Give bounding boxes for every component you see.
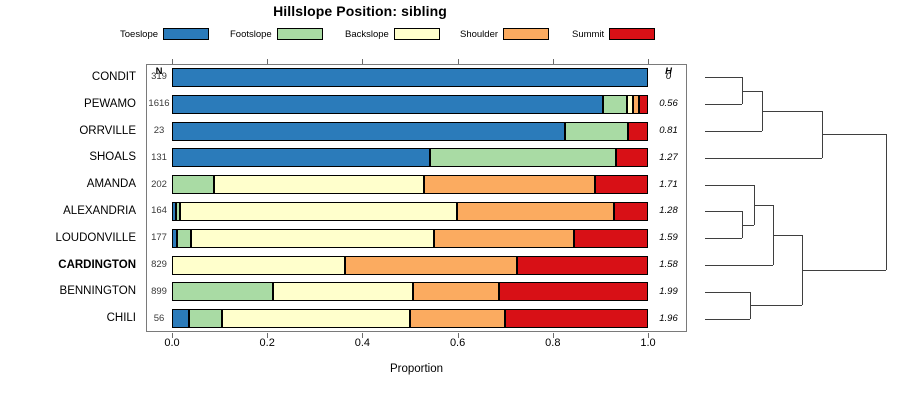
bar-chili[interactable] xyxy=(172,309,648,328)
x-tick-mark xyxy=(267,59,268,64)
bar-segment-footslope[interactable] xyxy=(565,122,627,141)
dendrogram-link xyxy=(705,265,773,266)
bar-segment-summit[interactable] xyxy=(616,148,648,167)
x-tick-label-0.2: 0.2 xyxy=(247,337,287,349)
x-axis-title: Proportion xyxy=(146,363,687,375)
bar-condit[interactable] xyxy=(172,68,648,87)
bar-segment-footslope[interactable] xyxy=(172,282,273,301)
bar-segment-toeslope[interactable] xyxy=(172,95,603,114)
bar-segment-footslope[interactable] xyxy=(430,148,616,167)
dendrogram-link xyxy=(705,292,750,293)
dendrogram-link xyxy=(705,77,742,78)
bar-segment-toeslope[interactable] xyxy=(172,148,430,167)
bar-alexandria[interactable] xyxy=(172,202,648,221)
bar-segment-toeslope[interactable] xyxy=(172,309,189,328)
bar-segment-backslope[interactable] xyxy=(172,256,345,275)
bar-loudonville[interactable] xyxy=(172,229,648,248)
bar-segment-summit[interactable] xyxy=(628,122,648,141)
bar-orrville[interactable] xyxy=(172,122,648,141)
x-tick-mark xyxy=(172,59,173,64)
bar-segment-shoulder[interactable] xyxy=(410,309,505,328)
x-tick-label-0.0: 0.0 xyxy=(152,337,192,349)
dendrogram xyxy=(690,64,900,332)
bar-segment-backslope[interactable] xyxy=(191,229,434,248)
dendrogram-link xyxy=(822,134,886,135)
bar-segment-backslope[interactable] xyxy=(180,202,457,221)
dendrogram-link xyxy=(705,158,822,159)
dendrogram-link xyxy=(705,238,742,239)
bar-segment-summit[interactable] xyxy=(517,256,648,275)
x-tick-label-0.4: 0.4 xyxy=(342,337,382,349)
dendrogram-link xyxy=(705,185,754,186)
bar-segment-toeslope[interactable] xyxy=(172,68,648,87)
bar-amanda[interactable] xyxy=(172,175,648,194)
bar-segment-shoulder[interactable] xyxy=(434,229,574,248)
bar-segment-shoulder[interactable] xyxy=(424,175,595,194)
bar-shoals[interactable] xyxy=(172,148,648,167)
bar-segment-footslope[interactable] xyxy=(177,229,191,248)
dendrogram-link xyxy=(705,319,750,320)
bar-segment-footslope[interactable] xyxy=(189,309,222,328)
dendrogram-link xyxy=(762,111,822,112)
bar-segment-backslope[interactable] xyxy=(214,175,423,194)
dendrogram-link xyxy=(705,211,742,212)
x-tick-mark xyxy=(458,59,459,64)
bar-segment-summit[interactable] xyxy=(639,95,648,114)
x-tick-mark xyxy=(648,59,649,64)
dendrogram-link xyxy=(886,134,887,270)
dendrogram-link xyxy=(705,104,742,105)
bar-segment-shoulder[interactable] xyxy=(345,256,517,275)
bar-segment-summit[interactable] xyxy=(574,229,648,248)
dendrogram-link xyxy=(754,205,773,206)
bar-segment-summit[interactable] xyxy=(505,309,648,328)
x-tick-mark xyxy=(362,59,363,64)
bar-bennington[interactable] xyxy=(172,282,648,301)
bar-segment-summit[interactable] xyxy=(614,202,648,221)
x-tick-label-0.6: 0.6 xyxy=(438,337,478,349)
bar-segment-summit[interactable] xyxy=(595,175,648,194)
bar-segment-shoulder[interactable] xyxy=(413,282,499,301)
x-tick-label-1.0: 1.0 xyxy=(628,337,668,349)
dendrogram-link xyxy=(705,131,762,132)
x-tick-mark xyxy=(553,59,554,64)
bar-segment-shoulder[interactable] xyxy=(457,202,614,221)
chart-canvas: Hillslope Position: sibling ToeslopeFoot… xyxy=(0,0,900,400)
bar-segment-backslope[interactable] xyxy=(273,282,413,301)
dendrogram-link xyxy=(742,225,754,226)
bar-segment-backslope[interactable] xyxy=(222,309,410,328)
bar-segment-footslope[interactable] xyxy=(172,175,214,194)
bar-segment-shoulder[interactable] xyxy=(633,95,640,114)
dendrogram-link xyxy=(773,235,802,236)
bar-cardington[interactable] xyxy=(172,256,648,275)
bar-segment-summit[interactable] xyxy=(499,282,648,301)
dendrogram-link xyxy=(742,91,762,92)
x-tick-label-0.8: 0.8 xyxy=(533,337,573,349)
dendrogram-link xyxy=(802,270,886,271)
bar-segment-toeslope[interactable] xyxy=(172,122,565,141)
bar-pewamo[interactable] xyxy=(172,95,648,114)
dendrogram-link xyxy=(750,305,802,306)
bar-segment-footslope[interactable] xyxy=(603,95,627,114)
